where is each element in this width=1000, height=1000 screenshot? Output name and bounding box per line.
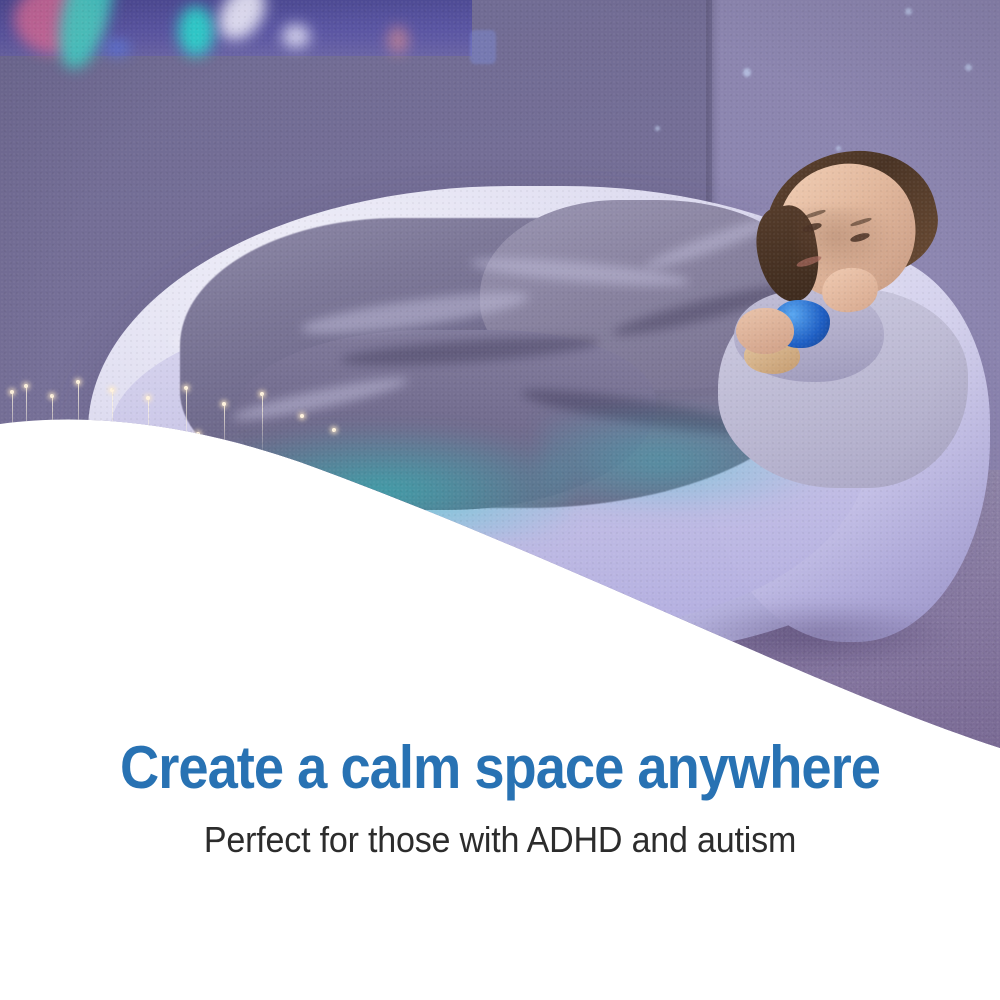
child-hand-lower	[736, 308, 794, 354]
child-face-shading	[796, 208, 892, 278]
light-blob-blue	[104, 40, 130, 56]
light-blob-pink-small	[388, 26, 408, 54]
fiber-tip	[196, 432, 200, 436]
light-blob-white	[209, 0, 275, 48]
promo-card: Create a calm space anywhere Perfect for…	[0, 0, 1000, 1000]
wall-star	[743, 68, 751, 77]
fiber-strand	[262, 394, 263, 460]
fiber-strand	[224, 404, 225, 460]
caption-block: Create a calm space anywhere Perfect for…	[0, 735, 1000, 861]
fiber-tip	[184, 386, 188, 390]
fiber-strand	[112, 390, 113, 458]
wall-star	[470, 30, 496, 64]
fiber-strand	[52, 396, 53, 454]
headline: Create a calm space anywhere	[48, 735, 953, 801]
subheadline: Perfect for those with ADHD and autism	[28, 819, 973, 861]
fiber-strand	[78, 382, 79, 458]
wall-star	[655, 126, 660, 131]
fiber-tip	[50, 394, 54, 398]
fiber-optic-strands	[0, 370, 430, 510]
fiber-strand	[26, 386, 27, 456]
wall-star	[905, 8, 912, 15]
fiber-tip	[300, 414, 304, 418]
fiber-tip	[260, 392, 264, 396]
fiber-tip	[332, 428, 336, 432]
product-photo	[0, 0, 1000, 760]
fiber-tip	[222, 402, 226, 406]
fiber-tip	[76, 380, 80, 384]
fiber-tip	[24, 384, 28, 388]
light-blob-white-small	[282, 24, 310, 48]
fiber-tip	[10, 390, 14, 394]
child	[700, 150, 1000, 480]
fiber-strand	[148, 398, 149, 458]
fiber-strand	[12, 392, 13, 454]
fiber-tip	[146, 396, 150, 400]
fiber-tip	[110, 388, 114, 392]
projector-light-band	[0, 0, 472, 56]
bean-bag-floor-shadow	[680, 600, 960, 670]
fiber-strand	[186, 388, 187, 462]
fiber-tip	[128, 442, 132, 446]
light-blob-teal	[178, 6, 214, 56]
wall-star	[965, 64, 972, 71]
